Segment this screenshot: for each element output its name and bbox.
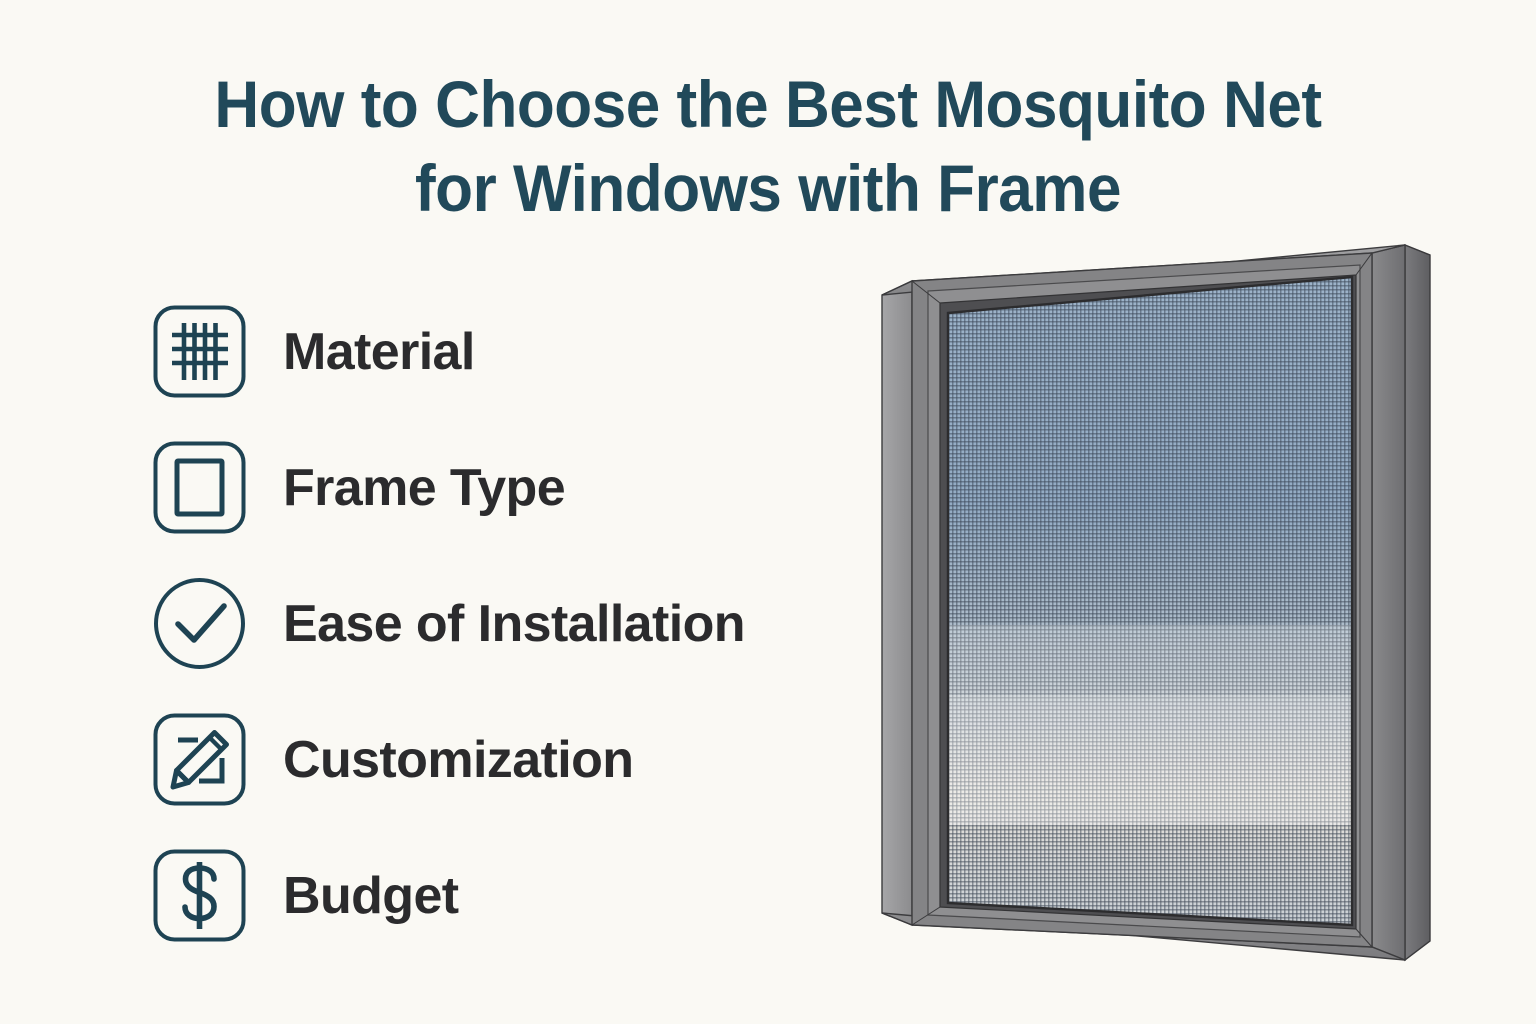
feature-list: Material Frame Type Ease of Installation: [152, 304, 852, 943]
mosquito-net-screen: [940, 265, 1364, 937]
frame-outer-right-edge: [1405, 245, 1430, 960]
feature-label-ease-of-installation: Ease of Installation: [283, 596, 745, 652]
feature-label-customization: Customization: [283, 732, 633, 788]
check-circle-icon: [152, 576, 247, 671]
feature-label-frame-type: Frame Type: [283, 460, 565, 516]
pencil-edit-icon: [152, 712, 247, 807]
window-with-mosquito-net-frame: [860, 225, 1480, 975]
feature-item-material: Material: [152, 304, 852, 399]
dollar-sign-icon: [152, 848, 247, 943]
feature-label-budget: Budget: [283, 868, 458, 924]
page-title-line-2: for Windows with Frame: [46, 146, 1490, 230]
feature-item-budget: Budget: [152, 848, 852, 943]
feature-item-frame-type: Frame Type: [152, 440, 852, 535]
frame-outer-left-face: [882, 281, 912, 925]
feature-label-material: Material: [283, 324, 475, 380]
mesh-grid-icon: [152, 304, 247, 399]
feature-item-ease-of-installation: Ease of Installation: [152, 576, 852, 671]
frame-outer-right-face: [1372, 245, 1405, 960]
frame-square-icon: [152, 440, 247, 535]
feature-item-customization: Customization: [152, 712, 852, 807]
page-title: How to Choose the Best Mosquito Net for …: [46, 62, 1490, 230]
page-title-line-1: How to Choose the Best Mosquito Net: [46, 62, 1490, 146]
